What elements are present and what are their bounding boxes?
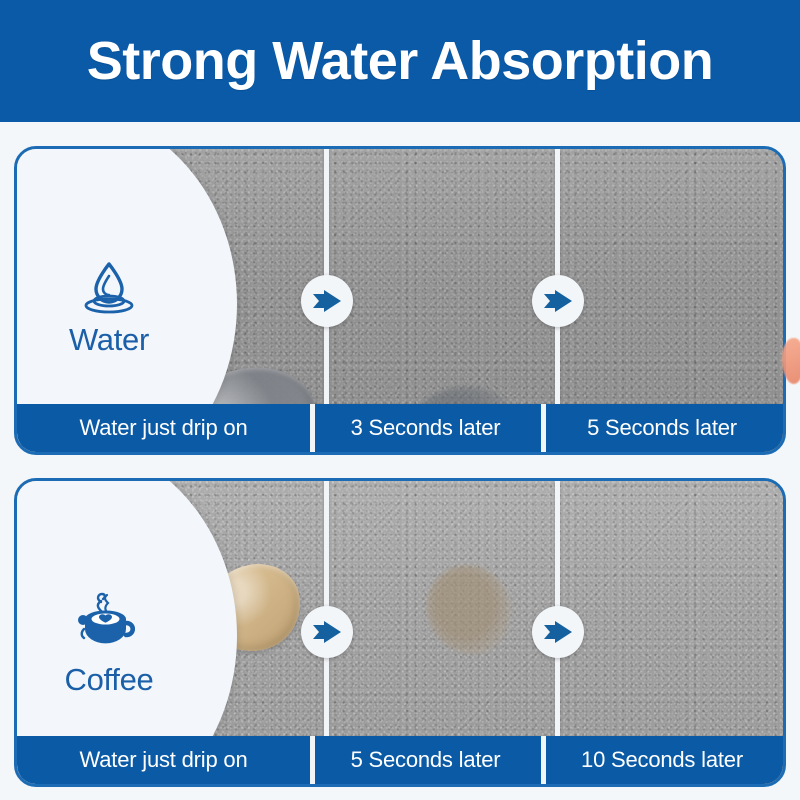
caption-coffee-stage-3: 10 Seconds later: [541, 736, 783, 784]
caption-water-stage-3: 5 Seconds later: [541, 404, 783, 452]
arrow-right-icon: [311, 621, 343, 643]
arrow-right-icon: [542, 621, 574, 643]
panel-label-coffee: Coffee: [35, 589, 183, 695]
demo-panel-water: Water Water just drip on 3 Seconds later…: [14, 146, 786, 455]
caption-coffee-stage-2: 5 Seconds later: [310, 736, 541, 784]
caption-coffee-stage-1: Water just drip on: [17, 736, 310, 784]
caption-bar-coffee: Water just drip on 5 Seconds later 10 Se…: [17, 736, 783, 784]
panel-label-text-water: Water: [69, 322, 149, 357]
stage-arrow-2-coffee: [532, 606, 584, 658]
panel-label-water: Water: [35, 257, 183, 355]
arrow-right-icon: [542, 290, 574, 312]
caption-water-stage-1: Water just drip on: [17, 404, 310, 452]
arrow-right-icon: [311, 290, 343, 312]
panel-label-text-coffee: Coffee: [65, 662, 154, 697]
demo-panel-coffee: Coffee Water just drip on 5 Seconds late…: [14, 478, 786, 787]
header-banner: Strong Water Absorption: [0, 0, 800, 122]
stage-arrow-1-coffee: [301, 606, 353, 658]
page-title: Strong Water Absorption: [87, 34, 713, 88]
caption-bar-water: Water just drip on 3 Seconds later 5 Sec…: [17, 404, 783, 452]
stage-arrow-2-water: [532, 275, 584, 327]
caption-water-stage-2: 3 Seconds later: [310, 404, 541, 452]
coffee-cup-icon: [35, 589, 183, 660]
water-drop-icon: [35, 257, 183, 320]
stage-arrow-1-water: [301, 275, 353, 327]
